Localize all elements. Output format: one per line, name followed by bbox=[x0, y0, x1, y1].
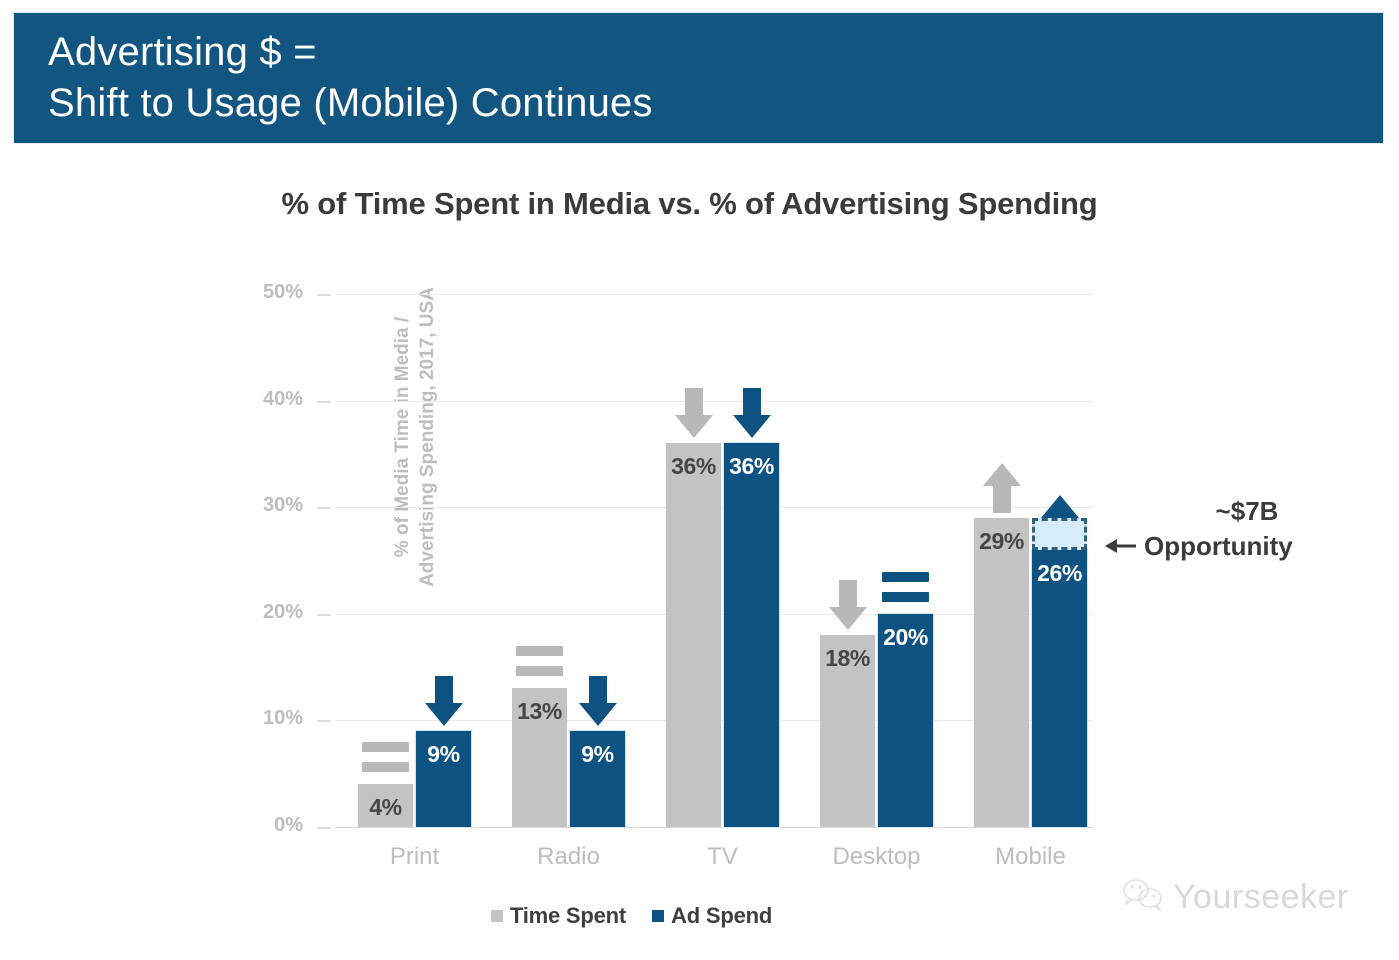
y-tick-label: 40% bbox=[243, 388, 303, 411]
bar-value-label: 9% bbox=[416, 741, 471, 768]
down-arrow-indicator-icon bbox=[828, 579, 868, 631]
gridline-50% bbox=[335, 294, 1093, 295]
y-tick-label: 30% bbox=[243, 494, 303, 517]
equals-indicator-icon bbox=[516, 646, 563, 680]
bar-print-time-spent[interactable]: 4% bbox=[358, 784, 413, 827]
equals-bar bbox=[516, 646, 563, 656]
x-axis-label-print: Print bbox=[328, 843, 501, 871]
bar-tv-ad-spend[interactable]: 36% bbox=[724, 443, 779, 827]
tick-mark-30% bbox=[317, 507, 331, 509]
y-tick-label: 10% bbox=[243, 707, 303, 730]
legend-swatch-time-spent bbox=[491, 910, 503, 922]
equals-bar bbox=[362, 762, 409, 772]
legend-item-ad-spend[interactable]: Ad Spend bbox=[652, 903, 772, 929]
x-axis-label-radio: Radio bbox=[482, 843, 655, 871]
down-arrow-indicator-icon bbox=[424, 675, 464, 727]
page-title: Advertising $ = Shift to Usage (Mobile) … bbox=[48, 27, 653, 129]
left-arrow-icon bbox=[1105, 529, 1137, 564]
bar-radio-ad-spend[interactable]: 9% bbox=[570, 731, 625, 827]
watermark-text: Yourseeker bbox=[1173, 878, 1349, 917]
down-arrow-indicator-icon bbox=[578, 675, 618, 727]
opportunity-value: ~$7B bbox=[1105, 494, 1355, 529]
opportunity-highlight-box[interactable] bbox=[1032, 518, 1087, 550]
bar-value-label: 29% bbox=[974, 528, 1029, 555]
bar-value-label: 18% bbox=[820, 645, 875, 672]
bar-value-label: 36% bbox=[666, 453, 721, 480]
tick-mark-40% bbox=[317, 401, 331, 403]
y-tick-label: 50% bbox=[243, 281, 303, 304]
bar-mobile-time-spent[interactable]: 29% bbox=[974, 518, 1029, 827]
bar-value-label: 20% bbox=[878, 624, 933, 651]
x-axis-label-tv: TV bbox=[636, 843, 809, 871]
equals-bar bbox=[882, 572, 929, 582]
tick-mark-50% bbox=[317, 294, 331, 296]
bar-desktop-time-spent[interactable]: 18% bbox=[820, 635, 875, 827]
y-tick-label: 20% bbox=[243, 601, 303, 624]
y-tick-label: 0% bbox=[243, 814, 303, 837]
down-arrow-indicator-icon bbox=[732, 387, 772, 439]
chart-title-text: % of Time Spent in Media vs. % of Advert… bbox=[282, 186, 1098, 222]
bar-value-label: 13% bbox=[512, 698, 567, 725]
x-axis-label-mobile: Mobile bbox=[944, 843, 1117, 871]
bar-radio-time-spent[interactable]: 13% bbox=[512, 688, 567, 827]
bar-value-label: 9% bbox=[570, 741, 625, 768]
y-axis-title: % of Media Time in Media / Advertising S… bbox=[390, 227, 440, 647]
bar-value-label: 4% bbox=[358, 794, 413, 821]
equals-indicator-icon bbox=[362, 742, 409, 776]
tick-mark-10% bbox=[317, 720, 331, 722]
bar-mobile-ad-spend[interactable]: 26% bbox=[1032, 550, 1087, 827]
gridline-0% bbox=[335, 827, 1093, 828]
tick-mark-0% bbox=[317, 827, 331, 829]
bar-desktop-ad-spend[interactable]: 20% bbox=[878, 614, 933, 827]
legend-label-ad-spend: Ad Spend bbox=[671, 903, 772, 929]
x-axis-label-desktop: Desktop bbox=[790, 843, 963, 871]
legend-label-time-spent: Time Spent bbox=[510, 903, 626, 929]
legend-item-time-spent[interactable]: Time Spent bbox=[491, 903, 626, 929]
chart-title: % of Time Spent in Media vs. % of Advert… bbox=[0, 186, 1399, 222]
up-arrow-indicator-icon bbox=[982, 462, 1022, 514]
tick-mark-20% bbox=[317, 614, 331, 616]
bar-tv-time-spent[interactable]: 36% bbox=[666, 443, 721, 827]
legend-swatch-ad-spend bbox=[652, 910, 664, 922]
opportunity-callout: ~$7B Opportunity bbox=[1105, 494, 1355, 564]
bar-print-ad-spend[interactable]: 9% bbox=[416, 731, 471, 827]
wechat-icon bbox=[1122, 878, 1164, 917]
bar-value-label: 36% bbox=[724, 453, 779, 480]
equals-bar bbox=[882, 592, 929, 602]
equals-bar bbox=[362, 742, 409, 752]
equals-indicator-icon bbox=[882, 572, 929, 606]
equals-bar bbox=[516, 666, 563, 676]
gridline-40% bbox=[335, 401, 1093, 402]
watermark: Yourseeker bbox=[1122, 878, 1349, 917]
bar-value-label: 26% bbox=[1032, 560, 1087, 587]
header-banner: Advertising $ = Shift to Usage (Mobile) … bbox=[14, 13, 1383, 143]
down-arrow-indicator-icon bbox=[674, 387, 714, 439]
opportunity-label: Opportunity bbox=[1144, 529, 1293, 564]
